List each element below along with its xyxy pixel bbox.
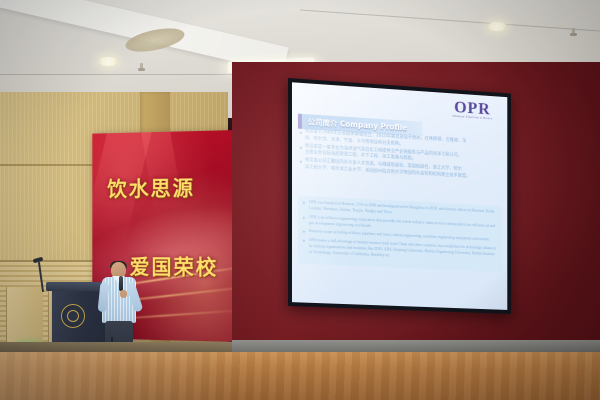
- projection-screen: OPR Offshore Pipelines & Risers 公司简介 Com…: [288, 78, 511, 314]
- banner-text-line1: 饮水思源: [107, 173, 195, 203]
- chinese-bullet-list: 特灵泰于2006年在美国休斯顿创立，2010年将总部设于杭州，在休斯顿、吉隆坡、…: [300, 129, 502, 184]
- speaker-hand: [120, 290, 127, 298]
- stage-floor: [0, 352, 600, 400]
- university-emblem-icon: [61, 304, 85, 328]
- ceiling-downlight: [487, 22, 507, 31]
- opr-logo-subtitle: Offshore Pipelines & Risers: [452, 116, 492, 121]
- conference-hall-photo: 饮水思源 爱国荣校 OPR Offshore Pipelines & Riser…: [0, 0, 600, 400]
- handheld-microphone-icon: [119, 276, 123, 291]
- ceiling-downlight: [98, 57, 118, 66]
- banner-text-line2: 爱国荣校: [130, 252, 219, 282]
- english-bullet-list: OPR was founded in Houston, USA in 2006 …: [298, 196, 502, 272]
- sprinkler-head: [572, 28, 575, 35]
- opr-logo: OPR Offshore Pipelines & Risers: [452, 98, 492, 121]
- ceiling-seam: [300, 10, 599, 32]
- projected-slide: OPR Offshore Pipelines & Risers 公司简介 Com…: [292, 82, 507, 310]
- floor-reflection: [0, 352, 600, 400]
- sprinkler-head: [140, 63, 143, 70]
